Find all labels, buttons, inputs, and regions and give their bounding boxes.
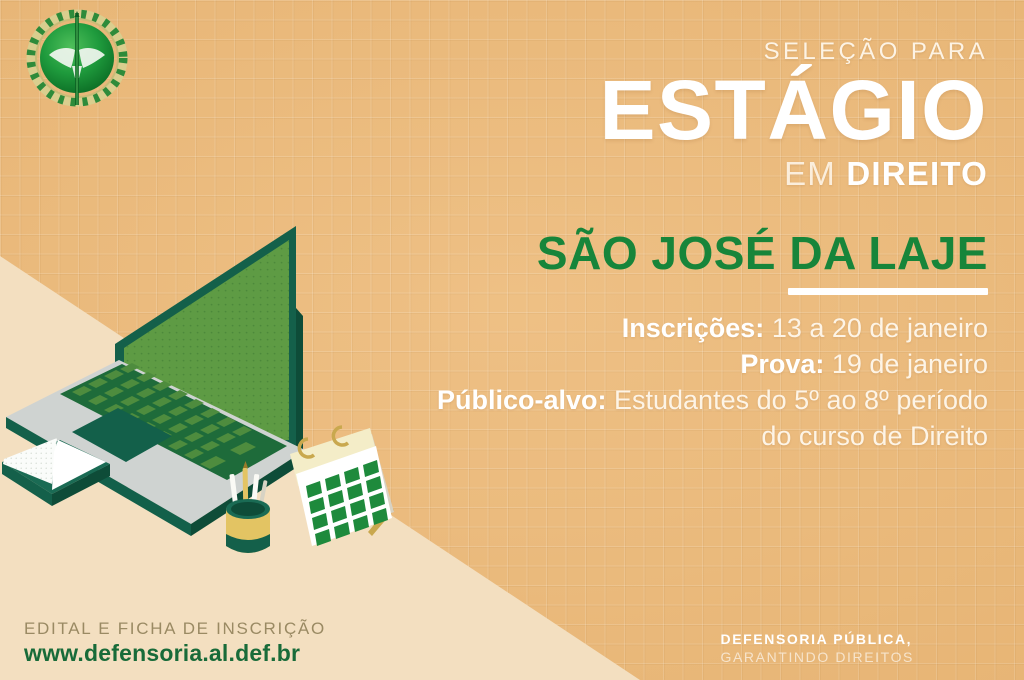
detail-label-prova: Prova: (740, 349, 824, 379)
detail-value-prova: 19 de janeiro (832, 349, 988, 379)
footer-tagline-line1: DEFENSORIA PÚBLICA, (721, 630, 915, 648)
detail-row-inscricoes: Inscrições: 13 a 20 de janeiro (428, 311, 988, 347)
details-block: Inscrições: 13 a 20 de janeiro Prova: 19… (428, 311, 988, 455)
footer-edital-block: EDITAL E FICHA DE INSCRIÇÃO www.defensor… (24, 618, 326, 666)
isometric-desk-illustration (0, 212, 420, 612)
footer-website-url[interactable]: www.defensoria.al.def.br (24, 640, 326, 666)
defensoria-logo (22, 8, 132, 112)
sword-icon (75, 11, 80, 105)
city-name: SÃO JOSÉ DA LAJE (428, 230, 988, 276)
desk-calendar-illustration (290, 427, 394, 546)
headline-block: SELEÇÃO PARA ESTÁGIO EM DIREITO SÃO JOSÉ… (428, 40, 988, 455)
detail-value-inscricoes: 13 a 20 de janeiro (772, 313, 988, 343)
detail-label-inscricoes: Inscrições: (622, 313, 765, 343)
detail-label-publico-alvo: Público-alvo: (437, 385, 607, 415)
title-underline-rule (788, 288, 988, 295)
detail-row-publico-alvo: Público-alvo: Estudantes do 5º ao 8º per… (428, 383, 988, 455)
page-title: ESTÁGIO (428, 70, 988, 151)
footer-tagline-block: DEFENSORIA PÚBLICA, GARANTINDO DIREITOS (721, 630, 915, 666)
poster-canvas: SELEÇÃO PARA ESTÁGIO EM DIREITO SÃO JOSÉ… (0, 0, 1024, 680)
subtitle-bold: DIREITO (846, 155, 988, 192)
footer-tagline-line2: GARANTINDO DIREITOS (721, 648, 915, 666)
kicker-text: SELEÇÃO PARA (428, 40, 988, 64)
detail-row-prova: Prova: 19 de janeiro (428, 347, 988, 383)
subtitle-light: EM (784, 155, 836, 192)
footer-edital-label: EDITAL E FICHA DE INSCRIÇÃO (24, 618, 326, 639)
detail-value-publico-alvo: Estudantes do 5º ao 8º período do curso … (614, 385, 988, 451)
subtitle: EM DIREITO (428, 157, 988, 190)
